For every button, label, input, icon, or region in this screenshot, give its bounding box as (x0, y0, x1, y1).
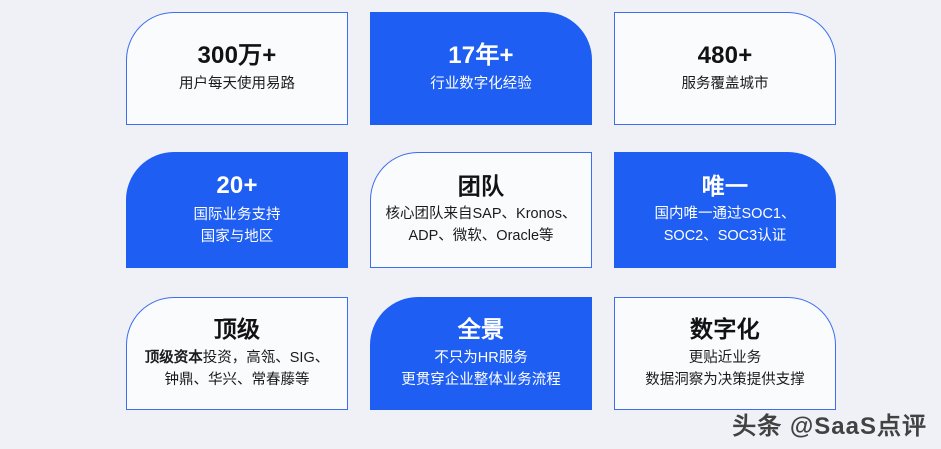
card-panorama-title: 全景 (458, 317, 505, 343)
card-cities-line-1-seg-1: 服务覆盖城市 (682, 76, 769, 92)
card-users-title: 300万+ (197, 43, 276, 70)
card-top-capital-line-2: 钟鼎、华兴、常春藤等 (164, 370, 309, 390)
card-team-line-1: 核心团队来自SAP、Kronos、 (386, 204, 577, 224)
card-top-capital-description: 顶级资本投资，高瓴、SIG、钟鼎、华兴、常春藤等 (145, 348, 329, 390)
card-top-capital-line-2-seg-1: 钟鼎、华兴、常春藤等 (164, 372, 309, 388)
card-unique: 唯一国内唯一通过SOC1、SOC2、SOC3认证 (614, 152, 836, 268)
stat-card-board: 300万+用户每天使用易路17年+行业数字化经验480+服务覆盖城市20+国际业… (0, 0, 941, 449)
card-experience: 17年+行业数字化经验 (370, 12, 592, 125)
card-experience-line-1-seg-1: 行业数字化经验 (430, 76, 532, 92)
card-unique-line-2-seg-1: SOC2、SOC3认证 (664, 228, 786, 244)
card-countries-line-2-seg-1: 国家与地区 (201, 229, 274, 245)
card-panorama: 全景不只为HR服务更贯穿企业整体业务流程 (370, 297, 592, 410)
card-digitalization-title: 数字化 (690, 317, 760, 343)
card-experience-title: 17年+ (448, 43, 514, 70)
card-top-capital-line-1-seg-2: 投资，高瓴、SIG、 (203, 350, 329, 366)
card-team-line-2: ADP、微软、Oracle等 (408, 226, 553, 246)
card-users: 300万+用户每天使用易路 (126, 12, 348, 125)
watermark-label: 头条 @SaaS点评 (732, 406, 927, 441)
card-cities-title: 480+ (698, 43, 753, 70)
card-unique-description: 国内唯一通过SOC1、SOC2、SOC3认证 (655, 204, 796, 246)
card-cities-description: 服务覆盖城市 (682, 74, 769, 94)
card-users-description: 用户每天使用易路 (179, 74, 295, 94)
card-countries-description: 国际业务支持国家与地区 (194, 205, 281, 247)
card-countries-line-1-seg-1: 国际业务支持 (194, 207, 281, 223)
card-users-line-1-seg-1: 用户每天使用易路 (179, 76, 295, 92)
card-experience-description: 行业数字化经验 (430, 74, 532, 94)
card-cities: 480+服务覆盖城市 (614, 12, 836, 125)
card-team-description: 核心团队来自SAP、Kronos、ADP、微软、Oracle等 (386, 204, 577, 246)
card-team: 团队核心团队来自SAP、Kronos、ADP、微软、Oracle等 (370, 152, 592, 268)
card-top-capital: 顶级顶级资本投资，高瓴、SIG、钟鼎、华兴、常春藤等 (126, 297, 348, 410)
card-team-line-1-seg-1: 核心团队来自SAP、Kronos、 (386, 206, 577, 222)
card-countries-line-2: 国家与地区 (201, 227, 274, 247)
card-users-line-1: 用户每天使用易路 (179, 74, 295, 94)
card-panorama-line-1: 不只为HR服务 (434, 348, 527, 368)
card-cities-line-1: 服务覆盖城市 (682, 74, 769, 94)
card-unique-line-1: 国内唯一通过SOC1、 (655, 204, 796, 224)
card-panorama-line-1-seg-1: 不只为HR服务 (434, 350, 527, 366)
card-countries-title: 20+ (216, 173, 257, 200)
card-experience-line-1: 行业数字化经验 (430, 74, 532, 94)
card-top-capital-title: 顶级 (214, 317, 261, 343)
card-panorama-line-2-seg-1: 更贯穿企业整体业务流程 (401, 372, 561, 388)
card-panorama-line-2: 更贯穿企业整体业务流程 (401, 370, 561, 390)
card-digitalization-line-1: 更贴近业务 (689, 348, 762, 368)
card-top-capital-line-1: 顶级资本投资，高瓴、SIG、 (145, 348, 329, 368)
card-digitalization-line-1-seg-1: 更贴近业务 (689, 350, 762, 366)
card-digitalization-line-2: 数据洞察为决策提供支撑 (645, 370, 805, 390)
card-unique-title: 唯一 (702, 174, 749, 200)
card-team-title: 团队 (458, 174, 505, 200)
card-unique-line-2: SOC2、SOC3认证 (664, 226, 786, 246)
card-digitalization-description: 更贴近业务数据洞察为决策提供支撑 (645, 348, 805, 390)
card-top-capital-line-1-seg-1: 顶级资本 (145, 350, 203, 366)
card-countries-line-1: 国际业务支持 (194, 205, 281, 225)
card-countries: 20+国际业务支持国家与地区 (126, 152, 348, 268)
card-digitalization-line-2-seg-1: 数据洞察为决策提供支撑 (645, 372, 805, 388)
card-digitalization: 数字化更贴近业务数据洞察为决策提供支撑 (614, 297, 836, 410)
card-unique-line-1-seg-1: 国内唯一通过SOC1、 (655, 206, 796, 222)
card-team-line-2-seg-1: ADP、微软、Oracle等 (408, 228, 553, 244)
card-panorama-description: 不只为HR服务更贯穿企业整体业务流程 (401, 348, 561, 390)
